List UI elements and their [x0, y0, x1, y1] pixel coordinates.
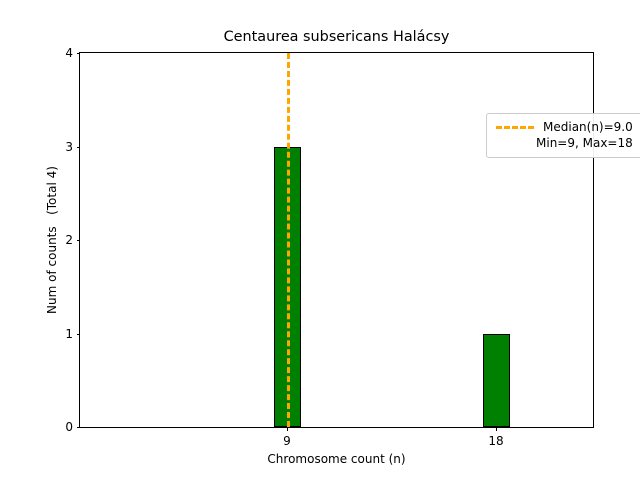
xtick-mark-18	[496, 427, 497, 431]
xtick-label-18: 18	[488, 434, 503, 448]
legend-entry-median: Median(n)=9.0	[496, 120, 633, 134]
median-line	[287, 53, 290, 427]
plot-axes: 0 1 2 3 4 9 18 Median(n)=9.0 Min=9, Max=…	[79, 52, 594, 428]
xtick-label-9: 9	[283, 434, 291, 448]
ytick-mark-3	[77, 147, 81, 148]
ytick-mark-4	[77, 53, 81, 54]
legend-dashed-line-icon	[496, 126, 534, 129]
legend-entry-minmax: Min=9, Max=18	[536, 136, 633, 150]
ytick-label-1: 1	[65, 327, 73, 341]
y-axis-label: Num of counts (Total 4)	[45, 52, 59, 428]
plot-area	[80, 53, 593, 427]
chart-title: Centaurea subsericans Halácsy	[79, 29, 594, 46]
legend-label-median: Median(n)=9.0	[543, 120, 633, 134]
ytick-mark-0	[77, 427, 81, 428]
x-axis-label: Chromosome count (n)	[79, 452, 594, 466]
chart-legend: Median(n)=9.0 Min=9, Max=18	[486, 113, 640, 158]
ytick-mark-2	[77, 240, 81, 241]
ytick-label-4: 4	[65, 46, 73, 60]
ytick-label-2: 2	[65, 233, 73, 247]
ytick-label-0: 0	[65, 420, 73, 434]
xtick-mark-9	[287, 427, 288, 431]
bar-18	[483, 334, 510, 428]
chart-figure: Centaurea subsericans Halácsy 0 1 2 3 4 …	[0, 0, 640, 480]
ytick-label-3: 3	[65, 140, 73, 154]
ytick-mark-1	[77, 334, 81, 335]
legend-label-minmax: Min=9, Max=18	[536, 136, 633, 150]
